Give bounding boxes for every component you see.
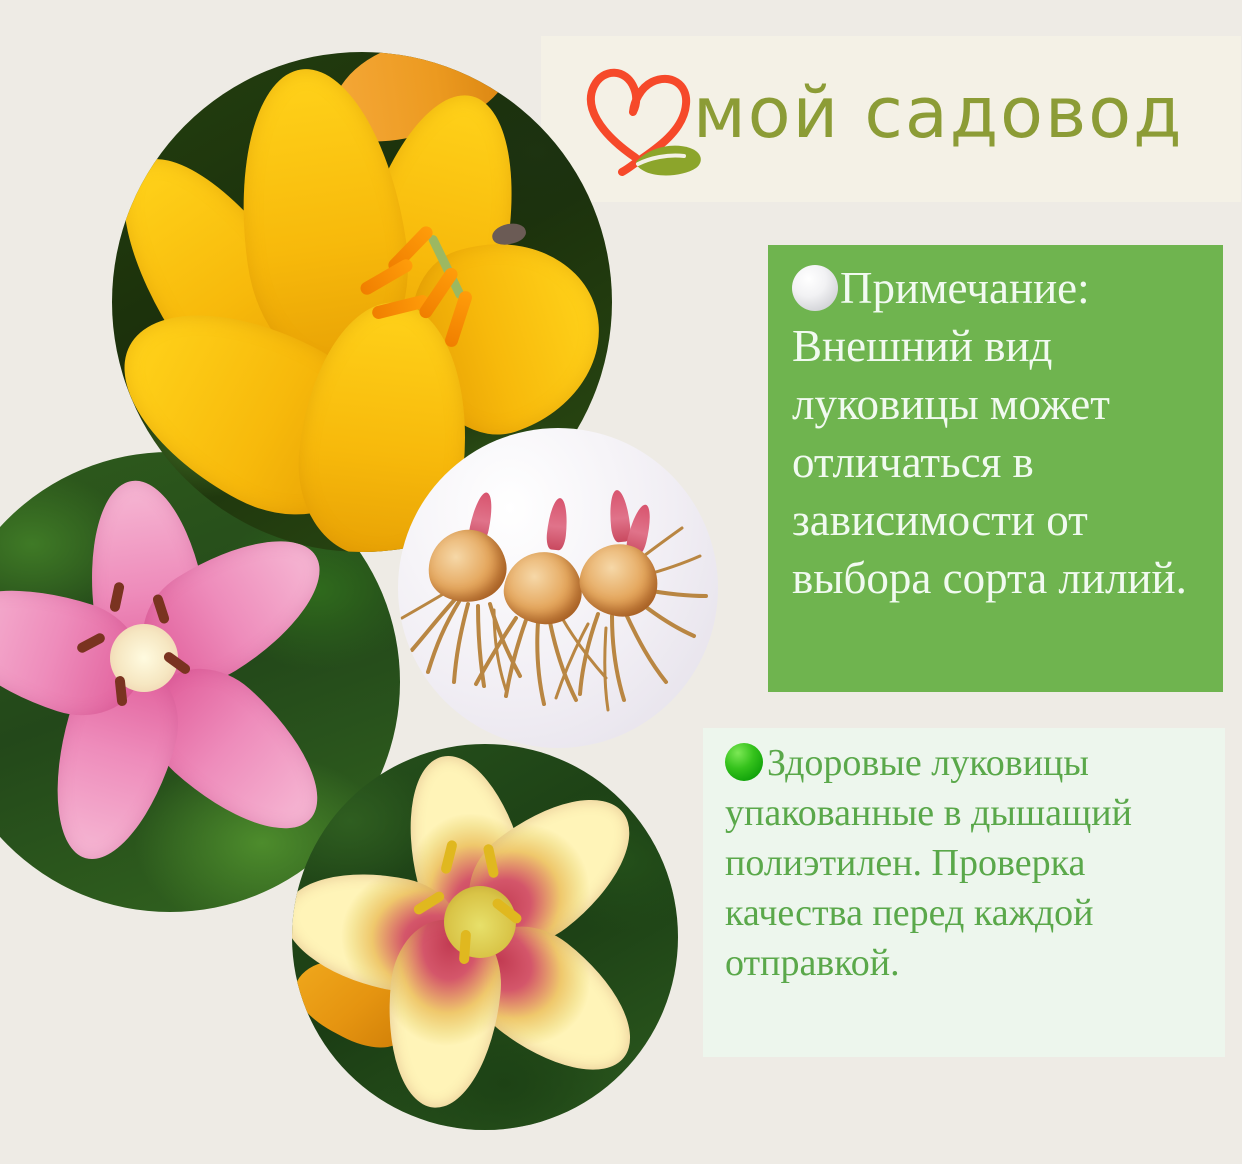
note-card-body: Примечание: Внешний вид луковицы может о… bbox=[792, 263, 1187, 603]
note-card: Примечание: Внешний вид луковицы может о… bbox=[768, 245, 1223, 692]
brand-logo[interactable]: мой садовод bbox=[541, 36, 1241, 202]
brand-name: мой садовод bbox=[693, 74, 1183, 152]
green-sphere-bullet-icon bbox=[725, 743, 763, 781]
note-card-text: Примечание: Внешний вид луковицы может о… bbox=[792, 259, 1201, 607]
bulbs-white-cloth-backdrop bbox=[398, 428, 718, 748]
photo-red-yellow-lily[interactable] bbox=[292, 744, 678, 1130]
quality-card-body: Здоровые луковицы упакованные в дышащий … bbox=[725, 742, 1132, 984]
red-lily-foliage-backdrop bbox=[292, 744, 678, 1130]
white-sphere-bullet-icon bbox=[792, 265, 838, 311]
promo-page: мой садовод Примечание: Внешний вид луко… bbox=[0, 0, 1242, 1164]
quality-card-text: Здоровые луковицы упакованные в дышащий … bbox=[725, 738, 1209, 988]
quality-card: Здоровые луковицы упакованные в дышащий … bbox=[703, 728, 1225, 1057]
photo-lily-bulbs[interactable] bbox=[398, 428, 718, 748]
red-lily-center bbox=[444, 886, 516, 958]
